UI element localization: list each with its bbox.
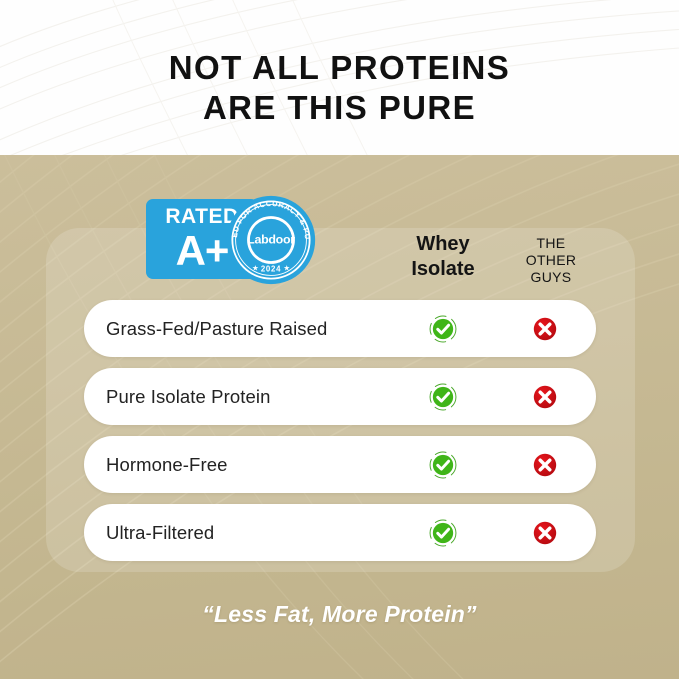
cross-icon xyxy=(531,315,559,343)
row-label: Pure Isolate Protein xyxy=(106,368,270,425)
header-band: NOT ALL PROTEINS ARE THIS PURE xyxy=(0,0,679,155)
check-icon xyxy=(429,315,457,343)
table-row: Grass-Fed/Pasture Raised xyxy=(84,300,596,357)
row-label: Grass-Fed/Pasture Raised xyxy=(106,300,327,357)
svg-text:Labdoor: Labdoor xyxy=(247,233,295,247)
cross-icon xyxy=(531,451,559,479)
table-row: Pure Isolate Protein xyxy=(84,368,596,425)
tagline: “Less Fat, More Protein” xyxy=(0,601,679,628)
svg-text:★: ★ xyxy=(283,263,290,272)
check-icon xyxy=(429,519,457,547)
column-header-other-guys: THE OTHER GUYS xyxy=(503,235,599,286)
column-header-whey-isolate: Whey Isolate xyxy=(388,232,498,282)
infographic-root: NOT ALL PROTEINS ARE THIS PURE xyxy=(0,0,679,679)
check-icon xyxy=(429,451,457,479)
table-row: Hormone-Free xyxy=(84,436,596,493)
labdoor-badge: RATED A+ TESTED FOR ACCURACY & PURITY La… xyxy=(146,194,322,286)
check-icon xyxy=(429,383,457,411)
labdoor-seal-icon: TESTED FOR ACCURACY & PURITY Labdoor 202… xyxy=(225,194,317,286)
comparison-rows: Grass-Fed/Pasture Raised Pure Isolate Pr… xyxy=(84,300,596,572)
svg-text:2024: 2024 xyxy=(261,264,281,273)
svg-text:★: ★ xyxy=(252,263,259,272)
row-label: Hormone-Free xyxy=(106,436,228,493)
cross-icon xyxy=(531,519,559,547)
page-title: NOT ALL PROTEINS ARE THIS PURE xyxy=(0,48,679,128)
row-label: Ultra-Filtered xyxy=(106,504,214,561)
table-row: Ultra-Filtered xyxy=(84,504,596,561)
cross-icon xyxy=(531,383,559,411)
